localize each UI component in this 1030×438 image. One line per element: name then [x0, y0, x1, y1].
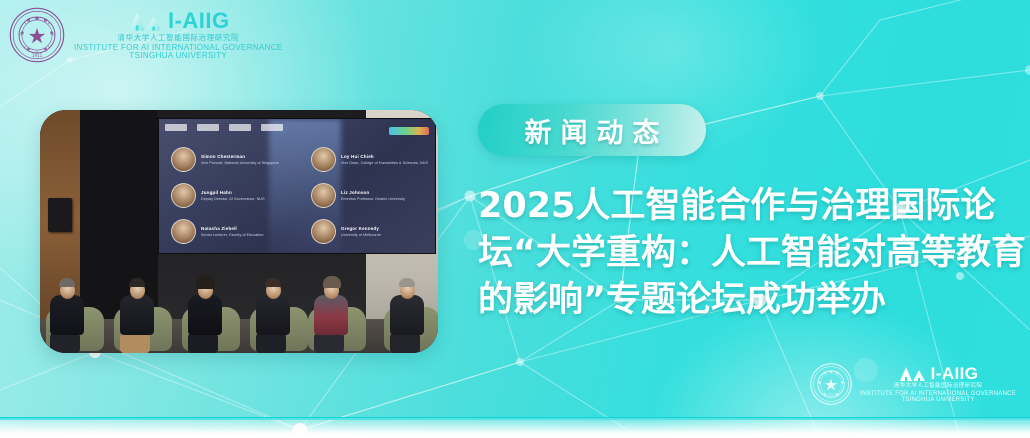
bottom-white-fade — [0, 418, 1030, 438]
legs — [256, 333, 286, 353]
hair — [265, 278, 281, 287]
iaiig-peaks-icon — [127, 10, 165, 32]
speaker-name: Jungpil Hahn — [201, 190, 265, 195]
legs — [50, 333, 80, 353]
news-banner: 1911 I-AIIG 清华大学人工智能国际治理研究院 INS — [0, 0, 1030, 438]
screen-speaker-0: Simon Chesterman Vice Provost, National … — [171, 147, 279, 172]
speaker-title: Deputy Director, AI Governance, NUS — [201, 197, 265, 201]
speaker-title: University of Melbourne — [341, 233, 381, 237]
speaker-title: Vice Dean, College of Humanities & Scien… — [341, 161, 428, 165]
speaker-name: Liz Johnson — [341, 190, 405, 195]
projection-screen: Simon Chesterman Vice Provost, National … — [158, 118, 436, 254]
legs — [314, 333, 344, 353]
speaker-title: Vice Provost, National University of Sin… — [201, 161, 279, 165]
speaker-name: Natasha Ziebell — [201, 226, 264, 231]
torso — [120, 295, 154, 335]
torso — [314, 295, 348, 335]
speaker-title: Senior Lecturer, Faculty of Education — [201, 233, 264, 237]
headline-title: 2025人工智能合作与治理国际论坛“大学重构：人工智能对高等教育的影响”专题论坛… — [478, 183, 1026, 324]
hair — [59, 278, 75, 287]
speaker-avatar — [171, 219, 196, 244]
header-logo-text: I-AIIG 清华大学人工智能国际治理研究院 INSTITUTE FOR AI … — [74, 10, 283, 60]
hair — [323, 276, 341, 288]
svg-text:1911: 1911 — [32, 53, 43, 58]
screen-brand-mark-icon — [389, 127, 429, 135]
hair — [196, 275, 215, 289]
torso — [188, 295, 222, 335]
badge-label: 新闻动态 — [516, 111, 669, 150]
tsinghua-seal-icon — [809, 362, 853, 406]
footer-wordmark: I-AIIG — [931, 365, 979, 382]
torso — [256, 295, 290, 335]
speaker-avatar — [311, 147, 336, 172]
screen-speaker-3: Loy Hui Chieh Vice Dean, College of Huma… — [311, 147, 428, 172]
panel-discussion-photo: Simon Chesterman Vice Provost, National … — [40, 110, 438, 353]
hair — [129, 278, 145, 287]
speaker-name: Simon Chesterman — [201, 154, 279, 159]
footer-logo-text: I-AIIG 清华大学人工智能国际治理研究院 INSTITUTE FOR AI … — [860, 365, 1016, 403]
screen-speaker-5: Gregor Kennedy University of Melbourne — [311, 219, 381, 244]
tsinghua-seal-icon: 1911 — [8, 6, 66, 64]
footer-logo: I-AIIG 清华大学人工智能国际治理研究院 INSTITUTE FOR AI … — [809, 362, 1016, 406]
screen-speaker-4: Liz Johnson Emeritus Professor, Deakin U… — [311, 183, 405, 208]
hair — [399, 278, 415, 287]
header-english-line2: TSINGHUA UNIVERSITY — [129, 52, 227, 60]
screen-speaker-2: Natasha Ziebell Senior Lecturer, Faculty… — [171, 219, 264, 244]
speaker-avatar — [311, 183, 336, 208]
news-category-badge[interactable]: 新闻动态 — [478, 104, 706, 156]
torso — [390, 295, 424, 335]
footer-english-line2: TSINGHUA UNIVERSITY — [901, 397, 974, 403]
wall-speaker-icon — [48, 198, 72, 232]
screen-speaker-1: Jungpil Hahn Deputy Director, AI Governa… — [171, 183, 265, 208]
legs — [120, 333, 150, 353]
legs — [390, 333, 420, 353]
speaker-avatar — [311, 219, 336, 244]
torso — [50, 295, 84, 335]
speaker-avatar — [171, 147, 196, 172]
header-logo: 1911 I-AIIG 清华大学人工智能国际治理研究院 INS — [8, 6, 283, 64]
screen-partner-logos — [165, 124, 283, 131]
speaker-avatar — [171, 183, 196, 208]
iaiig-peaks-icon — [898, 365, 928, 382]
speaker-name: Gregor Kennedy — [341, 226, 381, 231]
header-chinese-name: 清华大学人工智能国际治理研究院 — [118, 34, 240, 42]
footer-chinese-name: 清华大学人工智能国际治理研究院 — [894, 384, 983, 390]
header-wordmark: I-AIIG — [168, 10, 230, 32]
speaker-title: Emeritus Professor, Deakin University — [341, 197, 405, 201]
speaker-name: Loy Hui Chieh — [341, 154, 428, 159]
photo-content: Simon Chesterman Vice Provost, National … — [40, 110, 438, 353]
legs — [188, 333, 218, 353]
